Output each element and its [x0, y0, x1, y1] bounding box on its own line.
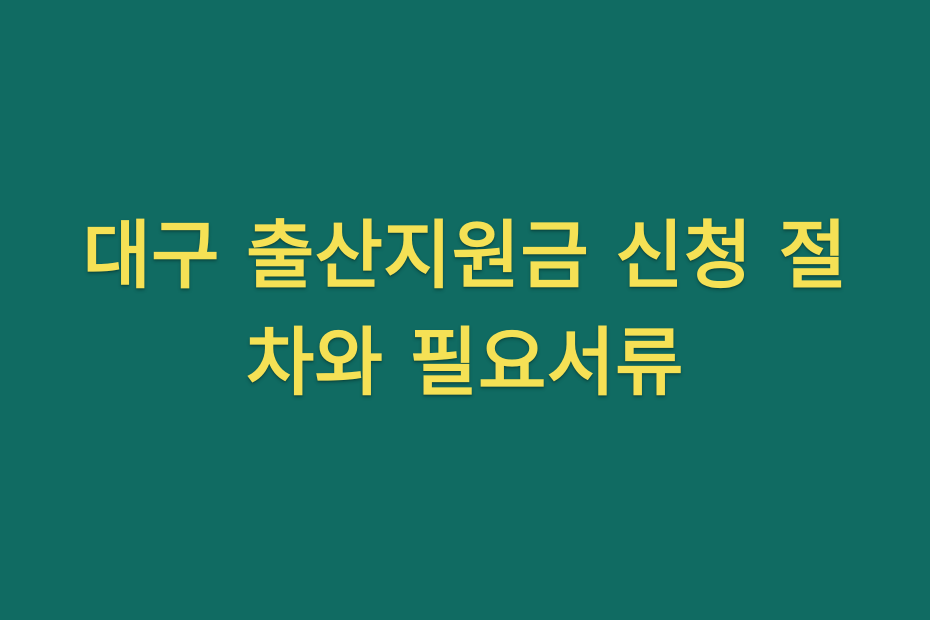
page-title-line-1: 대구 출산지원금 신청 절 [65, 203, 865, 310]
page-title-line-2: 차와 필요서류 [65, 310, 865, 417]
page-title: 대구 출산지원금 신청 절 차와 필요서류 [65, 203, 865, 418]
title-card: 대구 출산지원금 신청 절 차와 필요서류 [0, 0, 930, 620]
